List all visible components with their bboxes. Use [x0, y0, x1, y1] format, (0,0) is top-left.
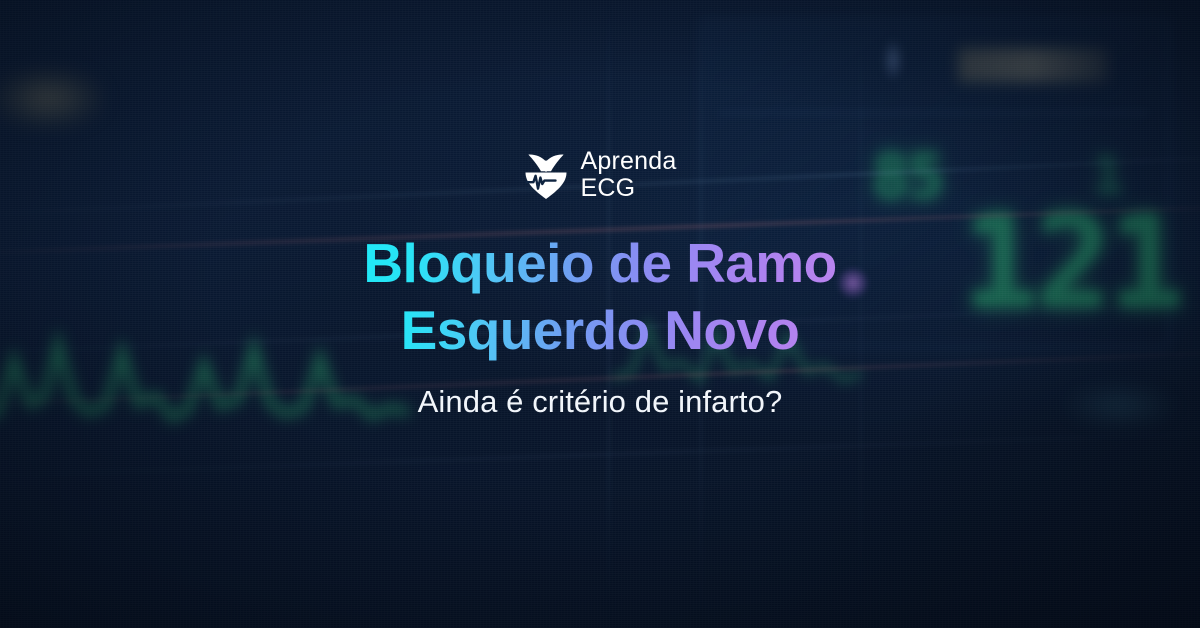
brand-lockup: Aprenda ECG [524, 148, 677, 202]
social-card-canvas: 85 1 121 [0, 0, 1200, 628]
page-title: Bloqueio de Ramo Esquerdo Novo [357, 230, 842, 364]
brand-name-line-1: Aprenda [581, 147, 677, 175]
page-title-line-2: Esquerdo Novo [363, 297, 836, 364]
page-subtitle: Ainda é critério de infarto? [418, 384, 783, 420]
heart-book-ecg-icon [524, 150, 568, 200]
page-title-line-1: Bloqueio de Ramo [363, 230, 836, 297]
card-content: Aprenda ECG Bloqueio de Ramo Esquerdo No… [0, 0, 1200, 628]
brand-name: Aprenda ECG [581, 148, 677, 202]
brand-name-line-2: ECG [581, 175, 677, 202]
